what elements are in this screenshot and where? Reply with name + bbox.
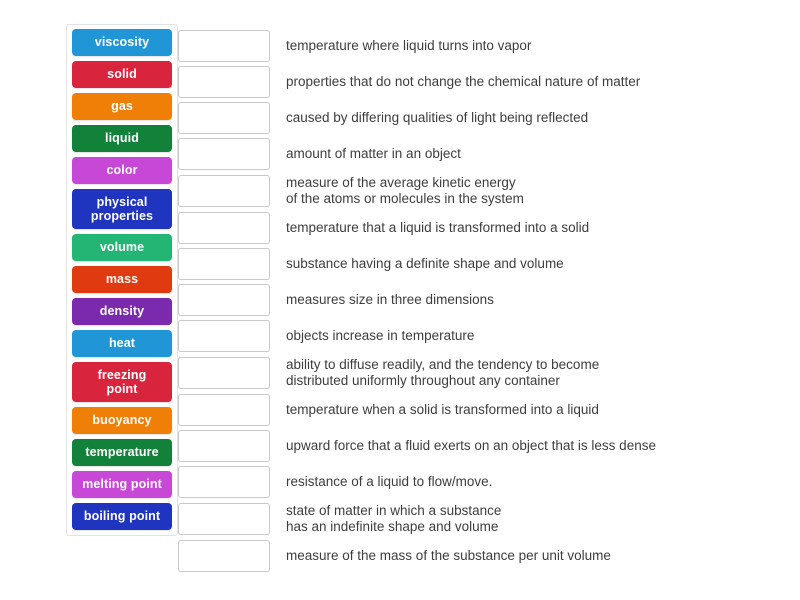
word-tile-density[interactable]: density: [72, 298, 172, 325]
word-tile-label: density: [100, 305, 144, 318]
answer-row-list: temperature where liquid turns into vapo…: [178, 28, 778, 574]
word-tile-boiling-point[interactable]: boiling point: [72, 503, 172, 530]
drop-zone-15[interactable]: [178, 540, 270, 572]
answer-row: measure of the average kinetic energy of…: [178, 172, 778, 210]
drop-zone-5[interactable]: [178, 175, 270, 207]
drop-zone-10[interactable]: [178, 357, 270, 389]
drop-zone-13[interactable]: [178, 466, 270, 498]
definition-text: ability to diffuse readily, and the tend…: [286, 357, 778, 389]
word-tile-buoyancy[interactable]: buoyancy: [72, 407, 172, 434]
drop-zone-14[interactable]: [178, 503, 270, 535]
definition-text: measure of the mass of the substance per…: [286, 548, 778, 564]
word-tile-label: melting point: [82, 478, 162, 491]
word-tile-label: heat: [109, 337, 135, 350]
word-tile-volume[interactable]: volume: [72, 234, 172, 261]
answer-row: ability to diffuse readily, and the tend…: [178, 354, 778, 392]
word-tile-label: volume: [100, 241, 144, 254]
drop-zone-3[interactable]: [178, 102, 270, 134]
answer-row: substance having a definite shape and vo…: [178, 246, 778, 282]
word-tile-label: gas: [111, 100, 133, 113]
answer-row: measure of the mass of the substance per…: [178, 538, 778, 574]
drop-zone-11[interactable]: [178, 394, 270, 426]
definition-text: temperature when a solid is transformed …: [286, 402, 778, 418]
definition-text: state of matter in which a substance has…: [286, 503, 778, 535]
definition-text: measures size in three dimensions: [286, 292, 778, 308]
answer-row: resistance of a liquid to flow/move.: [178, 464, 778, 500]
word-tile-label: temperature: [85, 446, 158, 459]
definition-text: properties that do not change the chemic…: [286, 74, 778, 90]
answer-row: properties that do not change the chemic…: [178, 64, 778, 100]
word-tile-heat[interactable]: heat: [72, 330, 172, 357]
word-tile-label: buoyancy: [92, 414, 151, 427]
definition-text: temperature that a liquid is transformed…: [286, 220, 778, 236]
definition-text: caused by differing qualities of light b…: [286, 110, 778, 126]
word-tile-viscosity[interactable]: viscosity: [72, 29, 172, 56]
answer-row: temperature when a solid is transformed …: [178, 392, 778, 428]
word-tile-label: mass: [106, 273, 138, 286]
definition-text: resistance of a liquid to flow/move.: [286, 474, 778, 490]
word-tile-label: boiling point: [84, 510, 160, 523]
drop-zone-8[interactable]: [178, 284, 270, 316]
drop-zone-2[interactable]: [178, 66, 270, 98]
answer-row: caused by differing qualities of light b…: [178, 100, 778, 136]
definition-text: upward force that a fluid exerts on an o…: [286, 438, 778, 454]
word-tile-melting-point[interactable]: melting point: [72, 471, 172, 498]
definition-text: objects increase in temperature: [286, 328, 778, 344]
word-tile-label: solid: [107, 68, 137, 81]
word-tile-label: viscosity: [95, 36, 149, 49]
answer-row: temperature that a liquid is transformed…: [178, 210, 778, 246]
match-up-activity: viscositysolidgasliquidcolorphysical pro…: [0, 0, 800, 600]
definition-text: temperature where liquid turns into vapo…: [286, 38, 778, 54]
word-tile-freezing-point[interactable]: freezing point: [72, 362, 172, 402]
drop-zone-6[interactable]: [178, 212, 270, 244]
word-tile-physical-properties[interactable]: physical properties: [72, 189, 172, 229]
definition-text: measure of the average kinetic energy of…: [286, 175, 778, 207]
word-tile-label: freezing point: [98, 368, 147, 396]
word-tile-label: liquid: [105, 132, 139, 145]
word-tile-solid[interactable]: solid: [72, 61, 172, 88]
drop-zone-4[interactable]: [178, 138, 270, 170]
answer-row: amount of matter in an object: [178, 136, 778, 172]
drop-zone-12[interactable]: [178, 430, 270, 462]
word-tile-gas[interactable]: gas: [72, 93, 172, 120]
drop-zone-9[interactable]: [178, 320, 270, 352]
word-tile-liquid[interactable]: liquid: [72, 125, 172, 152]
answer-row: objects increase in temperature: [178, 318, 778, 354]
word-tile-tray: viscositysolidgasliquidcolorphysical pro…: [66, 24, 178, 536]
drop-zone-1[interactable]: [178, 30, 270, 62]
answer-row: state of matter in which a substance has…: [178, 500, 778, 538]
definition-text: substance having a definite shape and vo…: [286, 256, 778, 272]
drop-zone-7[interactable]: [178, 248, 270, 280]
answer-row: upward force that a fluid exerts on an o…: [178, 428, 778, 464]
answer-row: measures size in three dimensions: [178, 282, 778, 318]
word-tile-mass[interactable]: mass: [72, 266, 172, 293]
word-tile-label: color: [106, 164, 137, 177]
word-tile-temperature[interactable]: temperature: [72, 439, 172, 466]
word-tile-label: physical properties: [91, 195, 153, 223]
definition-text: amount of matter in an object: [286, 146, 778, 162]
word-tile-color[interactable]: color: [72, 157, 172, 184]
answer-row: temperature where liquid turns into vapo…: [178, 28, 778, 64]
